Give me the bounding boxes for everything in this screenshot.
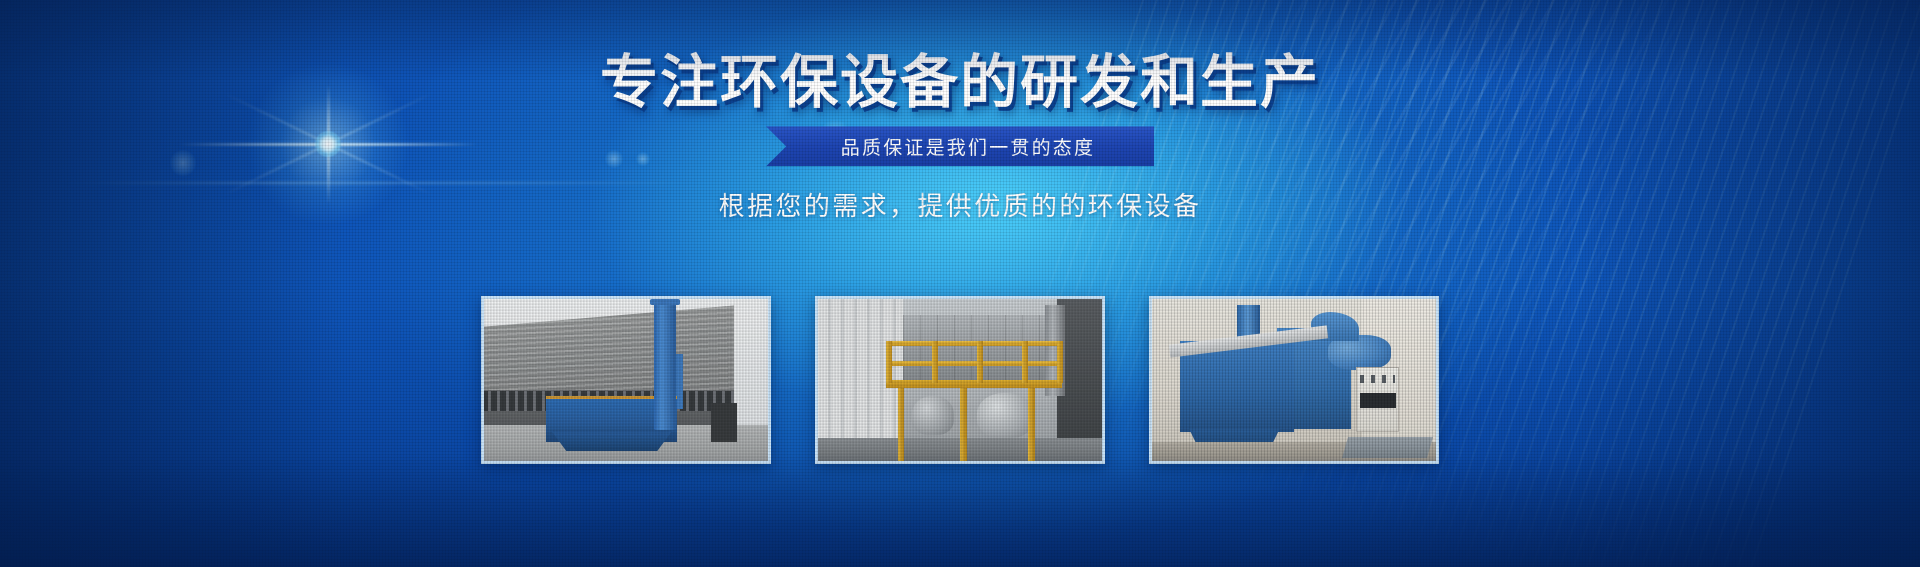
photo-strip xyxy=(0,296,1920,464)
promo-banner: 专注环保设备的研发和生产 品质保证是我们一贯的态度 根据您的需求，提供优质的的环… xyxy=(0,0,1920,567)
ribbon-badge: 品质保证是我们一贯的态度 xyxy=(766,126,1154,166)
platform-equipment-image xyxy=(818,299,1102,461)
photo-thumbnail-3[interactable] xyxy=(1149,296,1439,464)
banner-tagline: 根据您的需求，提供优质的的环保设备 xyxy=(0,186,1920,223)
factory-hall-image xyxy=(484,299,768,461)
ribbon-label: 品质保证是我们一贯的态度 xyxy=(825,133,1095,160)
photo-thumbnail-2[interactable] xyxy=(815,296,1105,464)
banner-headline: 专注环保设备的研发和生产 xyxy=(0,52,1920,112)
blue-ducting-image xyxy=(1152,299,1436,461)
photo-thumbnail-1[interactable] xyxy=(481,296,771,464)
banner-content: 专注环保设备的研发和生产 品质保证是我们一贯的态度 根据您的需求，提供优质的的环… xyxy=(0,0,1920,223)
ribbon-wrapper: 品质保证是我们一贯的态度 xyxy=(0,126,1920,166)
